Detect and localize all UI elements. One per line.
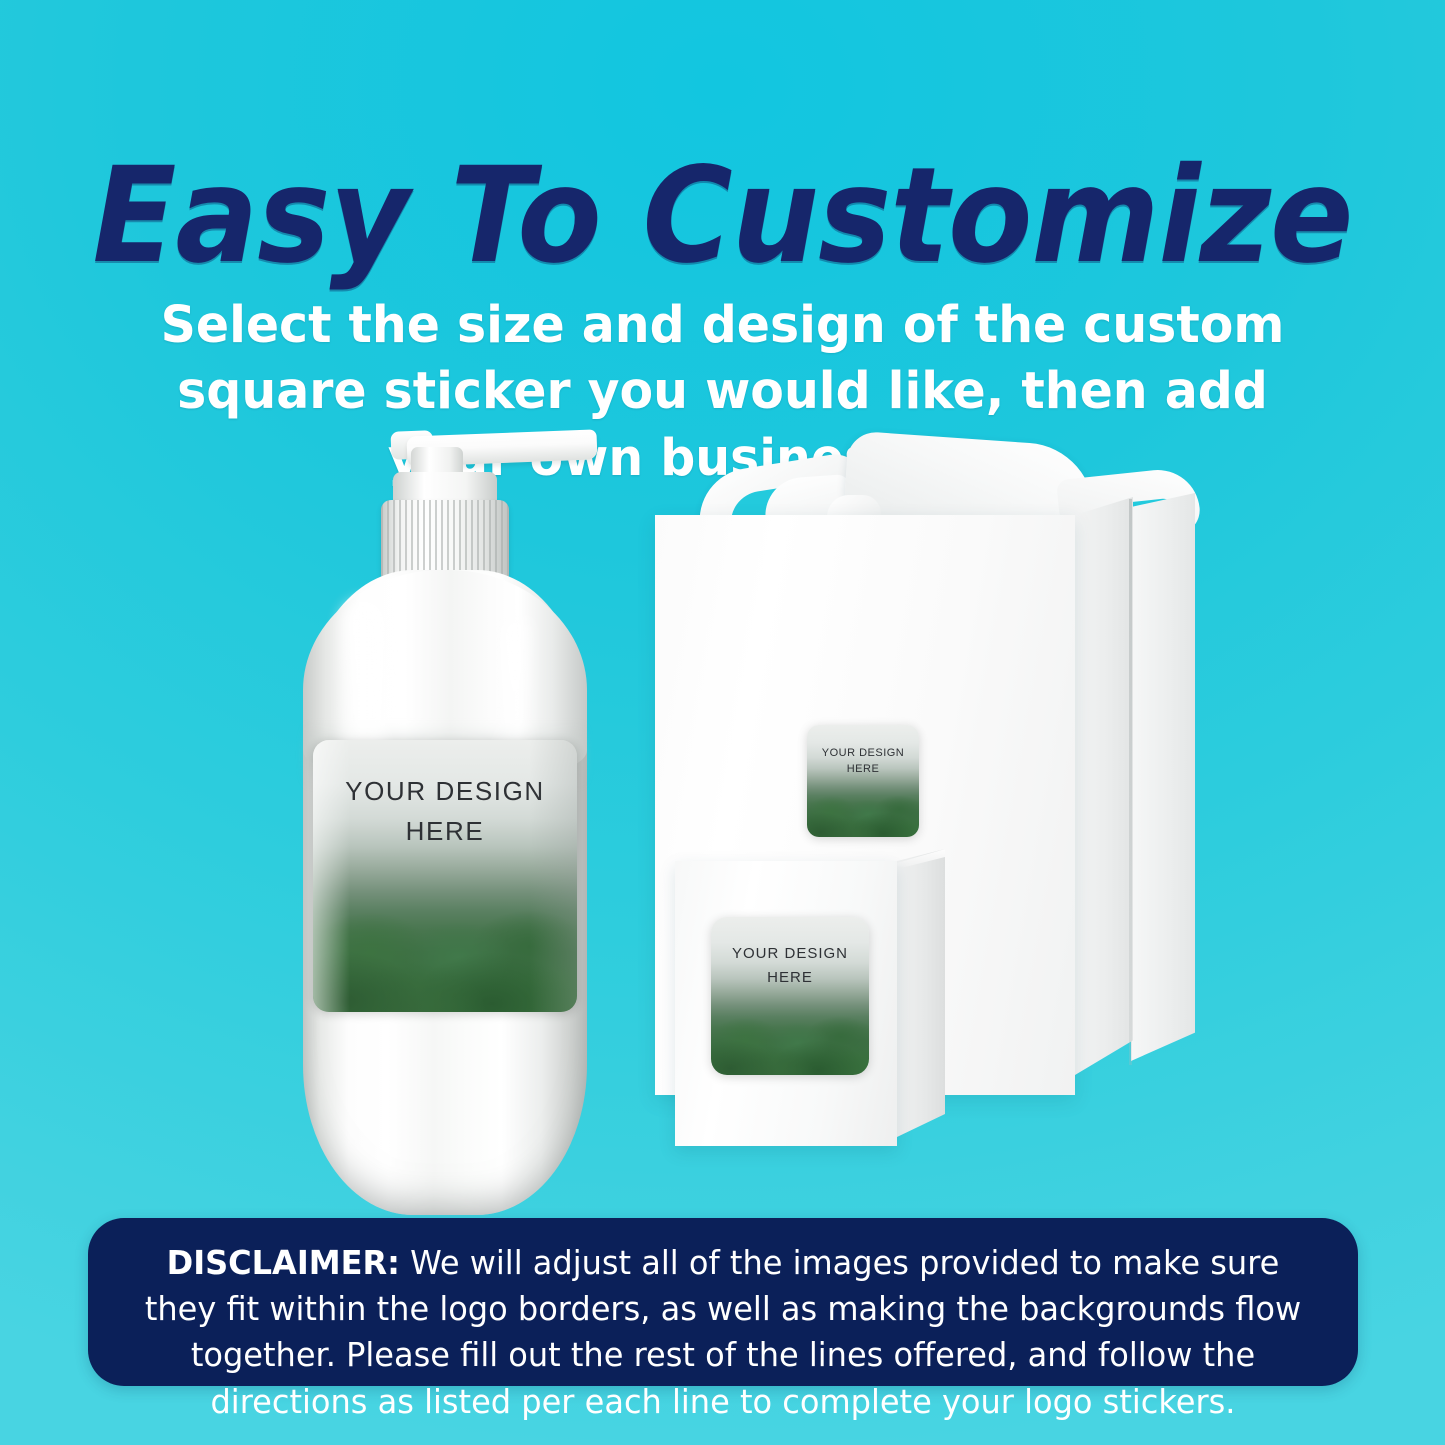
sticker-text-line2: HERE xyxy=(807,763,919,775)
disclaimer-text: DISCLAIMER: We will adjust all of the im… xyxy=(140,1240,1306,1425)
gift-box-side-panel xyxy=(1075,497,1133,1075)
sticker-text-line1: YOUR DESIGN xyxy=(807,747,919,759)
product-box-side-panel xyxy=(897,849,945,1137)
sticker-on-bottle: YOUR DESIGN HERE xyxy=(313,740,577,1012)
sticker-on-product-box: YOUR DESIGN HERE xyxy=(711,917,869,1075)
disclaimer-box: DISCLAIMER: We will adjust all of the im… xyxy=(88,1218,1358,1386)
gift-box-seam xyxy=(1129,499,1132,1065)
sticker-text-line2: HERE xyxy=(313,816,577,847)
disclaimer-label: DISCLAIMER: xyxy=(167,1243,400,1282)
sticker-text-line1: YOUR DESIGN xyxy=(313,776,577,807)
product-mockup-scene: YOUR DESIGN HERE YOUR DESIGN HERE xyxy=(0,380,1445,1210)
page-title: Easy To Customize xyxy=(51,150,1395,282)
sticker-text-line2: HERE xyxy=(711,969,869,986)
sticker-text-line1: YOUR DESIGN xyxy=(711,945,869,962)
promo-banner: Easy To Customize Select the size and de… xyxy=(0,0,1445,1445)
gift-box-back-panel xyxy=(1131,493,1195,1061)
pump-bottle-mockup: YOUR DESIGN HERE xyxy=(295,425,595,1215)
product-box-mockup: YOUR DESIGN HERE xyxy=(675,845,975,1155)
sticker-on-gift-box: YOUR DESIGN HERE xyxy=(807,725,919,837)
